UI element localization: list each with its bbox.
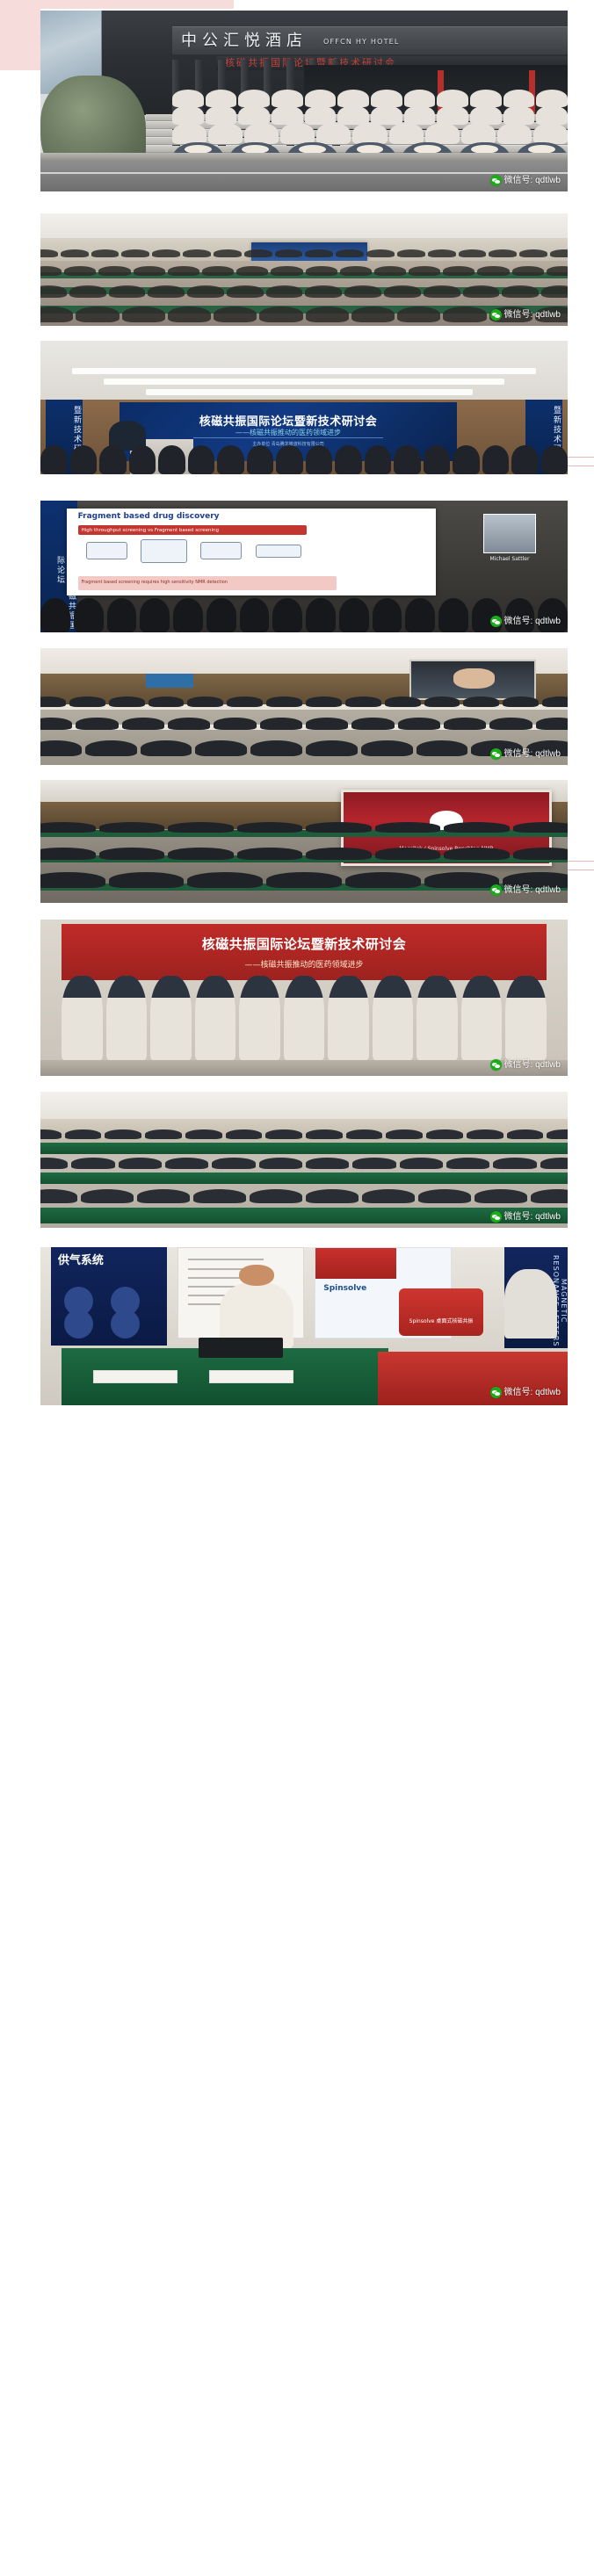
audience-seats — [40, 693, 568, 765]
banner-left-diagram — [61, 1287, 158, 1331]
hotel-sign-cn: 中公汇悦酒店 — [181, 32, 308, 50]
slide-title: Fragment based drug discovery — [78, 512, 300, 521]
watermark: 微信号: qdtlwb — [490, 175, 561, 186]
watermark-text: 微信号: qdtlwb — [504, 750, 561, 759]
photo-group-backdrop[interactable]: 核磁共振国际论坛暨新技术研讨会 ——核磁共振推动的医药领域进步 微信号: qdt… — [40, 920, 568, 1076]
poster-brand: Spinsolve — [323, 1284, 366, 1293]
photo-red-slide[interactable]: Magritek / Spinsolve Benchtop NMR — [40, 780, 568, 903]
wechat-icon — [490, 1387, 502, 1398]
photo-opening-slide[interactable]: 暨新技术研讨会 暨新技术研讨会 核磁共振国际论坛暨新技术研讨会 ——核磁共振推动… — [40, 341, 568, 474]
watermark: 微信号: qdtlwb — [490, 616, 561, 627]
visitor — [504, 1269, 557, 1339]
backdrop-subtitle: ——核磁共振推动的医药领域进步 — [91, 958, 518, 970]
secondary-monitor — [146, 674, 193, 688]
watermark-text: 微信号: qdtlwb — [504, 1213, 561, 1222]
stage-backdrop: 核磁共振国际论坛暨新技术研讨会 ——核磁共振推动的医药领域进步 — [62, 924, 547, 980]
curb — [40, 153, 568, 162]
watermark-text: 微信号: qdtlwb — [504, 177, 561, 185]
scene-hotel-entrance: 中公汇悦酒店OFFCN HY HOTEL 核磁共振国际论坛暨新技术研讨会 — [40, 11, 568, 191]
watermark: 微信号: qdtlwb — [490, 309, 561, 321]
wechat-icon — [490, 309, 502, 321]
watermark-text: 微信号: qdtlwb — [504, 886, 561, 895]
laptop — [199, 1338, 283, 1358]
audience — [40, 598, 568, 632]
scene-opening: 暨新技术研讨会 暨新技术研讨会 核磁共振国际论坛暨新技术研讨会 ——核磁共振推动… — [40, 341, 568, 474]
slide-diagram — [82, 538, 310, 577]
wechat-icon — [490, 616, 502, 627]
photo-exhibition-booth[interactable]: 供气系统 Spinsolve MAGNETIC RESONANCE LETTER… — [40, 1247, 568, 1405]
roll-up-banner-left: 供气系统 — [51, 1247, 167, 1346]
speaker-on-screen — [453, 668, 496, 689]
scene-auditorium — [40, 213, 568, 326]
watermark: 微信号: qdtlwb — [490, 1387, 561, 1398]
audience-seats — [40, 245, 568, 326]
photo-group-hotel[interactable]: 中公汇悦酒店OFFCN HY HOTEL 核磁共振国际论坛暨新技术研讨会 — [40, 11, 568, 191]
watermark-text: 微信号: qdtlwb — [504, 617, 561, 626]
left-pink-rail — [0, 0, 40, 70]
floor — [40, 1060, 568, 1076]
lecture-slide: Fragment based drug discovery High throu… — [67, 509, 436, 595]
scene-red-session: Magritek / Spinsolve Benchtop NMR — [40, 780, 568, 903]
wechat-icon — [490, 748, 502, 760]
instrument-label: Spinsolve 桌面式核磁共振 — [399, 1317, 483, 1324]
photo-hall-projector[interactable]: 微信号: qdtlwb — [40, 648, 568, 765]
speaker-name: Michael Sattler — [467, 556, 552, 562]
audience-seats — [40, 822, 568, 903]
photo-fragment-lecture[interactable]: 暨新技术研讨会 核磁共振国际论坛 Fragment based drug dis… — [40, 501, 568, 632]
watermark: 微信号: qdtlwb — [490, 748, 561, 760]
brochure-left — [93, 1370, 177, 1382]
hotel-sign-text: 中公汇悦酒店OFFCN HY HOTEL — [181, 28, 568, 51]
watermark-text: 微信号: qdtlwb — [504, 1061, 561, 1070]
group-members — [62, 976, 547, 1060]
watermark: 微信号: qdtlwb — [490, 884, 561, 896]
slide-banner: High throughput screening vs Fragment ba… — [78, 525, 307, 535]
scene-lecture: 暨新技术研讨会 核磁共振国际论坛 Fragment based drug dis… — [40, 501, 568, 632]
wechat-icon — [490, 884, 502, 896]
slide-title: 核磁共振国际论坛暨新技术研讨会 — [160, 412, 417, 429]
wechat-icon — [490, 1059, 502, 1071]
wechat-icon — [490, 1211, 502, 1223]
banner-left-title: 供气系统 — [58, 1251, 160, 1267]
slide-rule — [193, 437, 382, 438]
watermark-text: 微信号: qdtlwb — [504, 311, 561, 320]
article-page: 中公汇悦酒店OFFCN HY HOTEL 核磁共振国际论坛暨新技术研讨会 — [0, 0, 594, 2576]
watermark-text: 微信号: qdtlwb — [504, 1389, 561, 1397]
scene-hall — [40, 648, 568, 765]
spinsolve-instrument: Spinsolve 桌面式核磁共振 — [399, 1288, 483, 1336]
photo-seated-rows[interactable]: 微信号: qdtlwb — [40, 1092, 568, 1228]
slide-subtitle: ——核磁共振推动的医药领域进步 — [160, 428, 417, 437]
scene-delegates — [40, 1092, 568, 1228]
speaker-portrait — [483, 514, 536, 553]
brochure-right — [209, 1370, 293, 1382]
scene-group-backdrop: 核磁共振国际论坛暨新技术研讨会 ——核磁共振推动的医药领域进步 — [40, 920, 568, 1076]
scene-booth: 供气系统 Spinsolve MAGNETIC RESONANCE LETTER… — [40, 1247, 568, 1405]
photo-auditorium-back[interactable]: 微信号: qdtlwb — [40, 213, 568, 326]
road — [40, 162, 568, 191]
wechat-icon — [490, 175, 502, 186]
audience — [40, 445, 568, 474]
slide-banner-text: High throughput screening vs Fragment ba… — [78, 525, 307, 533]
backdrop-title: 核磁共振国际论坛暨新技术研讨会 — [91, 934, 518, 953]
hotel-sign-en: OFFCN HY HOTEL — [323, 38, 400, 46]
ceiling-cove-lights — [40, 364, 568, 400]
slide-footer: Fragment based screening requires high s… — [78, 576, 337, 590]
watermark: 微信号: qdtlwb — [490, 1059, 561, 1071]
poster-red-block — [315, 1248, 396, 1279]
watermark: 微信号: qdtlwb — [490, 1211, 561, 1223]
slide-footer-text: Fragment based screening requires high s… — [78, 576, 337, 588]
table-rows — [40, 1127, 568, 1228]
top-pink-rail — [0, 0, 234, 9]
